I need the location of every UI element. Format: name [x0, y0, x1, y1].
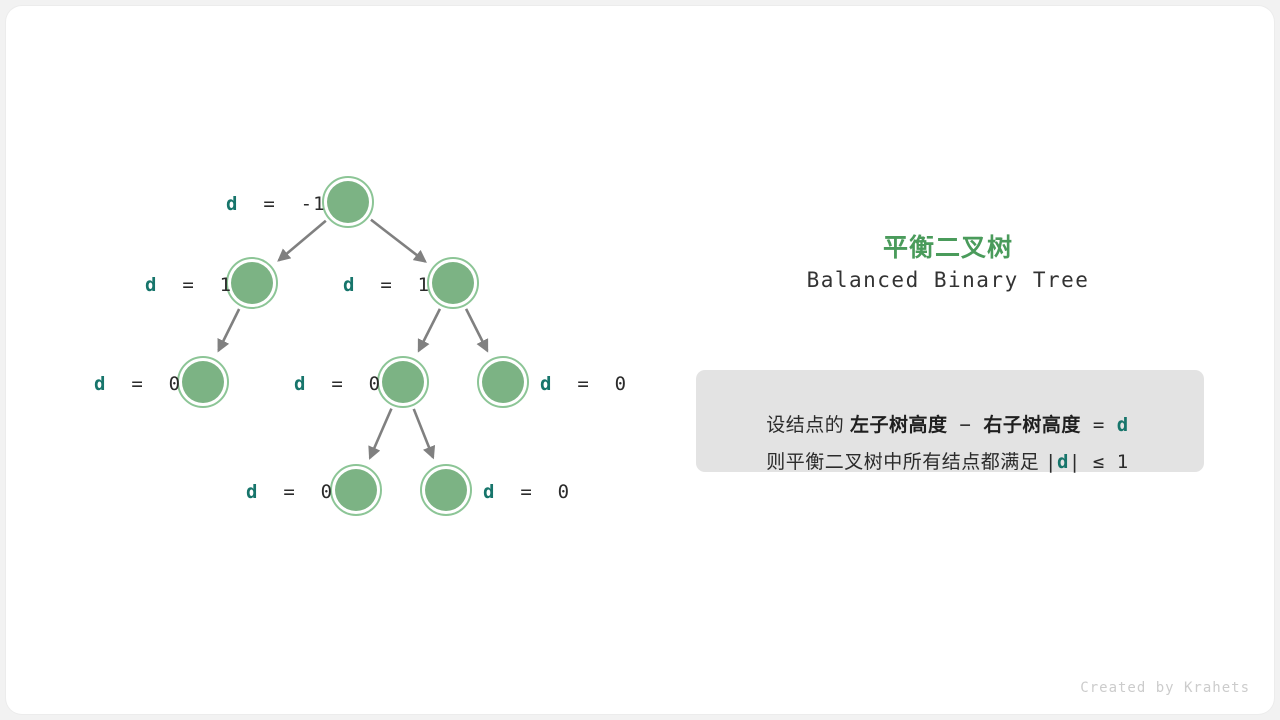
- tree-node-disc: [482, 361, 524, 403]
- abs-bar-open-icon: |: [1045, 451, 1057, 473]
- abs-bar-close-icon: |: [1069, 451, 1081, 473]
- definition-line1-bold-left: 左子树高度: [850, 415, 948, 436]
- node-balance-label: d = 1: [343, 276, 430, 295]
- node-balance-value: = 1: [355, 274, 430, 296]
- tree-edges: [219, 220, 488, 458]
- tree-svg: [0, 0, 660, 720]
- tree-node[interactable]: [378, 357, 428, 407]
- node-balance-variable: d: [343, 274, 355, 296]
- definition-line2-prefix: 则平衡二叉树中所有结点都满足: [766, 452, 1045, 473]
- tree-node-disc: [382, 361, 424, 403]
- definition-line2-relation: ≤ 1: [1081, 451, 1129, 473]
- tree-node[interactable]: [323, 177, 373, 227]
- tree-node-disc: [327, 181, 369, 223]
- definition-line1-prefix: 设结点的: [766, 415, 850, 436]
- node-balance-value: = 0: [495, 481, 570, 503]
- node-balance-value: = 0: [552, 373, 627, 395]
- node-balance-variable: d: [483, 481, 495, 503]
- definition-line1-variable: d: [1117, 414, 1129, 436]
- node-balance-variable: d: [94, 373, 106, 395]
- tree-edge: [466, 309, 487, 351]
- node-balance-label: d = -1: [226, 195, 326, 214]
- definition-box: 设结点的 左子树高度 − 右子树高度 = d 则平衡二叉树中所有结点都满足 |d…: [696, 370, 1204, 472]
- node-balance-variable: d: [294, 373, 306, 395]
- tree-node[interactable]: [178, 357, 228, 407]
- definition-line2-variable: d: [1057, 451, 1069, 473]
- tree-nodes: [178, 177, 528, 515]
- node-balance-value: = 0: [306, 373, 381, 395]
- page-subtitle: Balanced Binary Tree: [660, 268, 1236, 292]
- node-balance-variable: d: [145, 274, 157, 296]
- credit-text: Created by Krahets: [1080, 680, 1250, 696]
- tree-node[interactable]: [478, 357, 528, 407]
- tree-edge: [279, 221, 326, 261]
- definition-line1-minus: −: [948, 414, 984, 436]
- page-title: 平衡二叉树: [660, 228, 1236, 264]
- node-balance-label: d = 0: [540, 375, 627, 394]
- tree-node-disc: [231, 262, 273, 304]
- tree-node-disc: [182, 361, 224, 403]
- node-balance-value: = 1: [157, 274, 232, 296]
- tree-node-disc: [335, 469, 377, 511]
- definition-line1-equals: =: [1081, 414, 1117, 436]
- node-balance-variable: d: [226, 193, 238, 215]
- tree-edge: [414, 409, 433, 458]
- node-balance-label: d = 0: [483, 483, 570, 502]
- node-balance-value: = 0: [106, 373, 181, 395]
- tree-node-disc: [425, 469, 467, 511]
- binary-tree-diagram: d = -1d = 1d = 1d = 0d = 0d = 0d = 0d = …: [0, 0, 660, 720]
- node-balance-value: = 0: [258, 481, 333, 503]
- tree-node[interactable]: [331, 465, 381, 515]
- definition-line1-bold-right: 右子树高度: [983, 415, 1081, 436]
- tree-edge: [419, 309, 440, 351]
- screenshot-root: d = -1d = 1d = 1d = 0d = 0d = 0d = 0d = …: [0, 0, 1280, 720]
- node-balance-value: = -1: [238, 193, 325, 215]
- node-balance-label: d = 0: [294, 375, 381, 394]
- tree-node[interactable]: [227, 258, 277, 308]
- definition-line-2: 则平衡二叉树中所有结点都满足 |d| ≤ 1: [720, 434, 1129, 491]
- node-balance-variable: d: [246, 481, 258, 503]
- tree-edge: [219, 309, 240, 351]
- node-balance-variable: d: [540, 373, 552, 395]
- tree-node[interactable]: [428, 258, 478, 308]
- tree-node[interactable]: [421, 465, 471, 515]
- node-balance-label: d = 0: [94, 375, 181, 394]
- node-balance-label: d = 1: [145, 276, 232, 295]
- tree-node-disc: [432, 262, 474, 304]
- info-panel: 平衡二叉树 Balanced Binary Tree 设结点的 左子树高度 − …: [660, 0, 1280, 720]
- tree-edge: [370, 409, 391, 458]
- node-balance-label: d = 0: [246, 483, 333, 502]
- tree-edge: [371, 220, 425, 262]
